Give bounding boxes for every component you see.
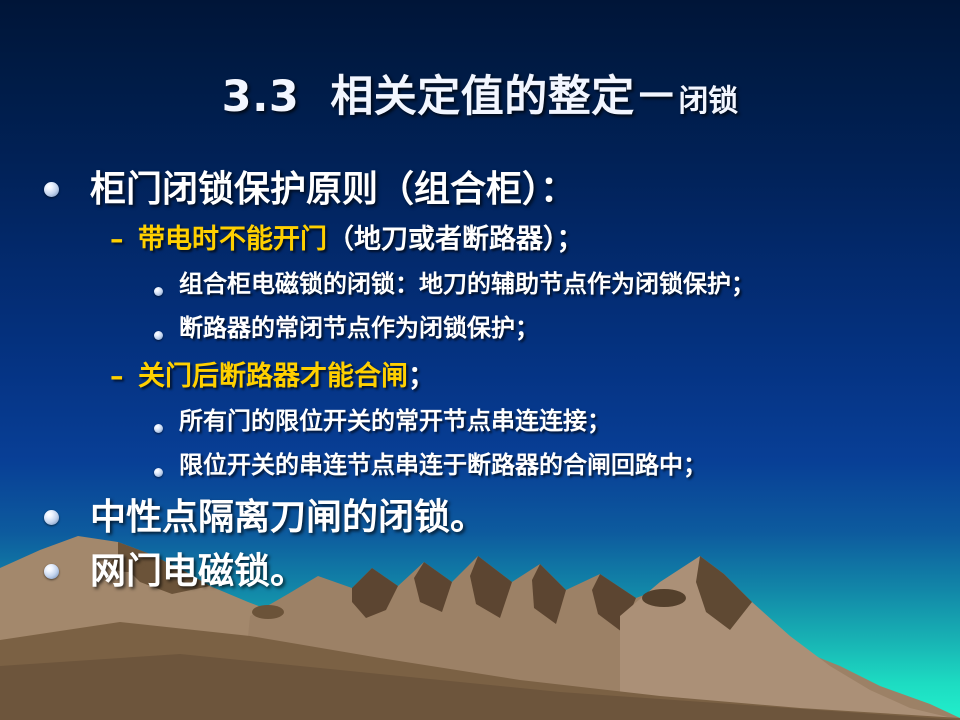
bullet-level2-text: 关门后断路器才能合闸； — [138, 359, 924, 394]
title-number: 3.3 — [222, 72, 300, 122]
slide: 3.3 相关定值的整定－闭锁 柜门闭锁保护原则（组合柜）： – 带电时不能开门（… — [0, 0, 960, 720]
sphere-bullet-icon — [44, 168, 90, 201]
dash-bullet-icon: – — [110, 359, 138, 394]
sphere-bullet-icon — [154, 269, 179, 300]
title-suffix-text: 闭锁 — [678, 84, 738, 119]
bullet-level1-item: 网门电磁锁。 — [44, 550, 924, 594]
bullet-level3-item: 限位开关的串连节点串连于断路器的合闸回路中； — [154, 450, 924, 481]
bullet-level3-text: 组合柜电磁锁的闭锁：地刀的辅助节点作为闭锁保护； — [179, 269, 924, 300]
bullet-level2-item: – 关门后断路器才能合闸； — [110, 359, 924, 394]
bullet-level1-text: 网门电磁锁。 — [90, 550, 924, 594]
bullet-level2-highlight: 关门后断路器才能合闸 — [138, 361, 408, 392]
title-main-text: 相关定值的整定－ — [330, 72, 678, 122]
slide-body: 柜门闭锁保护原则（组合柜）： – 带电时不能开门（地刀或者断路器）； 组合柜电磁… — [44, 168, 924, 598]
sphere-bullet-icon — [154, 313, 179, 344]
title-spacer — [299, 72, 330, 122]
bullet-level1-text: 柜门闭锁保护原则（组合柜）： — [90, 168, 924, 212]
bullet-level3-text: 所有门的限位开关的常开节点串连连接； — [179, 406, 924, 437]
slide-title: 3.3 相关定值的整定－闭锁 — [0, 62, 960, 124]
sphere-bullet-icon — [44, 496, 90, 529]
bullet-level1-item: 中性点隔离刀闸的闭锁。 — [44, 496, 924, 540]
sphere-bullet-icon — [154, 450, 179, 481]
bullet-level1-item: 柜门闭锁保护原则（组合柜）： — [44, 168, 924, 212]
bullet-level1-text: 中性点隔离刀闸的闭锁。 — [90, 496, 924, 540]
bullet-level3-item: 组合柜电磁锁的闭锁：地刀的辅助节点作为闭锁保护； — [154, 269, 924, 300]
bullet-level2-highlight: 带电时不能开门 — [138, 224, 327, 255]
bullet-level3-item: 所有门的限位开关的常开节点串连连接； — [154, 406, 924, 437]
bullet-level2-tail: （地刀或者断路器）； — [327, 224, 584, 255]
bullet-level2-item: – 带电时不能开门（地刀或者断路器）； — [110, 222, 924, 257]
sphere-bullet-icon — [44, 550, 90, 583]
bullet-level3-text: 限位开关的串连节点串连于断路器的合闸回路中； — [179, 450, 924, 481]
sphere-bullet-icon — [154, 406, 179, 437]
dash-bullet-icon: – — [110, 222, 138, 257]
bullet-level3-item: 断路器的常闭节点作为闭锁保护； — [154, 313, 924, 344]
bullet-level3-text: 断路器的常闭节点作为闭锁保护； — [179, 313, 924, 344]
bullet-level2-tail: ； — [408, 361, 435, 392]
bullet-level2-text: 带电时不能开门（地刀或者断路器）； — [138, 222, 924, 257]
